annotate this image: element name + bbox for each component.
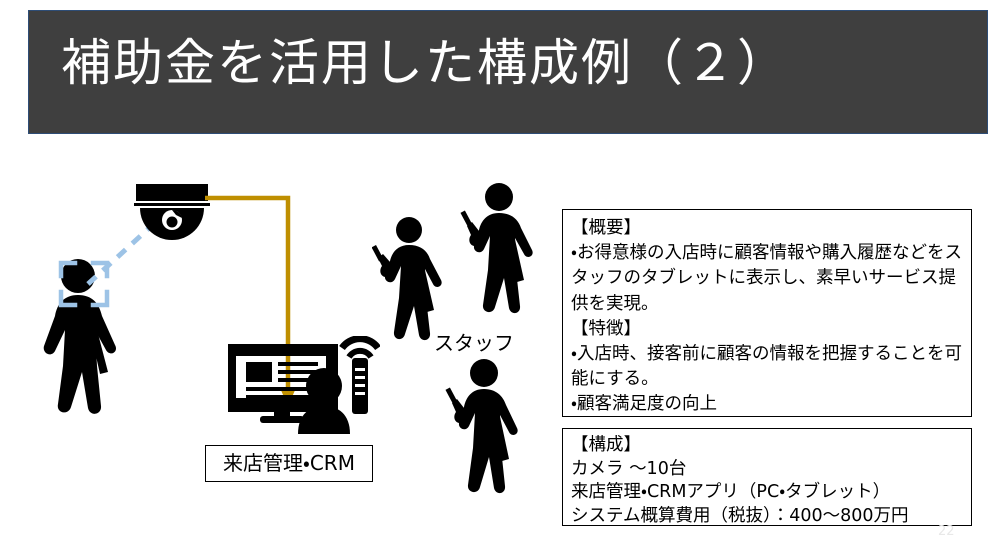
staff-figure-with-tablet-2: [452, 180, 540, 320]
composition-text-box: 【構成】 カメラ ～10台 来店管理・CRMアプリ（PC・タブレット） システム…: [562, 428, 972, 526]
overview-text-box: 【概要】 ・お得意様の入店時に顧客情報や購入履歴などをスタッフのタブレットに表示…: [562, 209, 972, 417]
title-banner: 補助金を活用した構成例（２）: [28, 10, 988, 134]
page-title: 補助金を活用した構成例（２）: [61, 29, 789, 97]
composition-text: 【構成】 カメラ ～10台 来店管理・CRMアプリ（PC・タブレット） システム…: [563, 429, 971, 528]
pc-crm-wireless-icon: [228, 336, 380, 434]
overview-text: 【概要】 ・お得意様の入店時に顧客情報や購入履歴などをスタッフのタブレットに表示…: [563, 210, 971, 418]
staff-figure-with-tablet-3: [440, 356, 528, 501]
staff-figure-with-tablet-1: [372, 214, 454, 346]
page-number: 22: [938, 524, 955, 539]
crm-label-box: 来店管理・CRM: [205, 445, 373, 482]
